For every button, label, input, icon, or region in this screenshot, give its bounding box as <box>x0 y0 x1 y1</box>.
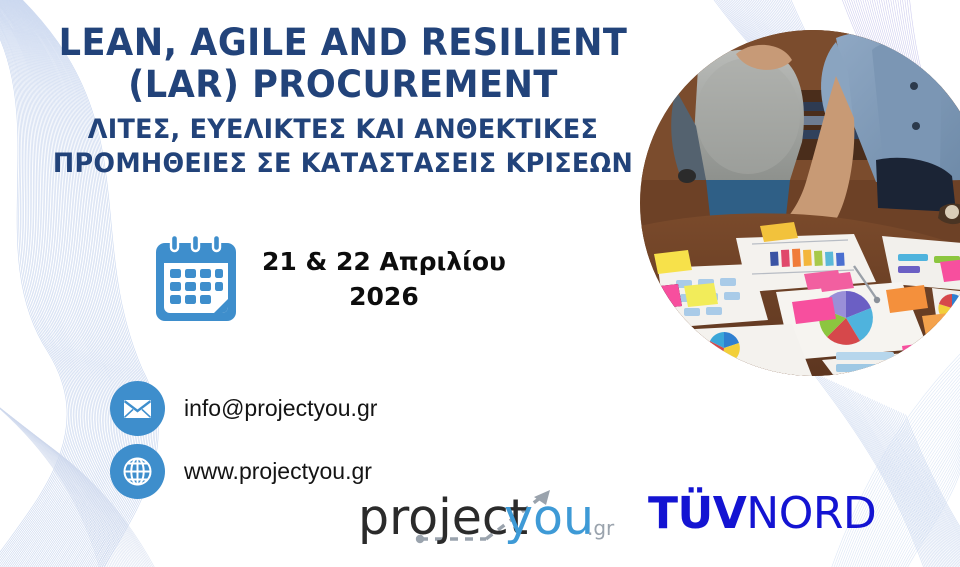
tuv-light-text: NORD <box>746 488 876 539</box>
headline-block: LEAN, AGILE AND RESILIENT (LAR) PROCUREM… <box>18 22 668 180</box>
event-photo <box>640 30 960 376</box>
subtitle-line-2: ΠΡΟΜΗΘΕΙΕΣ ΣΕ ΚΑΤΑΣΤΑΣΕΙΣ ΚΡΙΣΕΩΝ <box>31 147 655 181</box>
title-line-1: LEAN, AGILE AND RESILIENT <box>34 22 652 64</box>
title-line-2: (LAR) PROCUREMENT <box>34 64 652 106</box>
contact-website-row[interactable]: www.projectyou.gr <box>110 444 372 499</box>
subtitle-line-1: ΛΙΤΕΣ, ΕΥΕΛΙΚΤΕΣ ΚΑΙ ΑΝΘΕΚΤΙΚΕΣ <box>31 113 655 147</box>
tuv-bold-text: TÜV <box>648 488 746 539</box>
date-line-2: 2026 <box>262 279 506 315</box>
event-date-row: 21 & 22 Απριλίου 2026 <box>152 233 506 325</box>
projectyou-text-blue: you <box>504 489 594 546</box>
contact-email-row[interactable]: info@projectyou.gr <box>110 381 377 436</box>
projectyou-text-dark: project <box>358 489 528 546</box>
event-date-text: 21 & 22 Απριλίου 2026 <box>262 244 506 315</box>
poster-canvas: LEAN, AGILE AND RESILIENT (LAR) PROCUREM… <box>0 0 960 567</box>
tuv-nord-logo: TÜVNORD <box>648 492 876 536</box>
envelope-icon <box>110 381 165 436</box>
projectyou-logo: project you .gr <box>358 487 633 549</box>
calendar-icon <box>152 233 240 325</box>
projectyou-suffix: .gr <box>587 516 615 540</box>
website-text: www.projectyou.gr <box>184 458 372 485</box>
globe-icon <box>110 444 165 499</box>
title-greek: ΛΙΤΕΣ, ΕΥΕΛΙΚΤΕΣ ΚΑΙ ΑΝΘΕΚΤΙΚΕΣ ΠΡΟΜΗΘΕΙ… <box>31 113 655 181</box>
email-text: info@projectyou.gr <box>184 395 377 422</box>
title-english: LEAN, AGILE AND RESILIENT (LAR) PROCUREM… <box>34 22 652 106</box>
date-line-1: 21 & 22 Απριλίου <box>262 244 506 280</box>
